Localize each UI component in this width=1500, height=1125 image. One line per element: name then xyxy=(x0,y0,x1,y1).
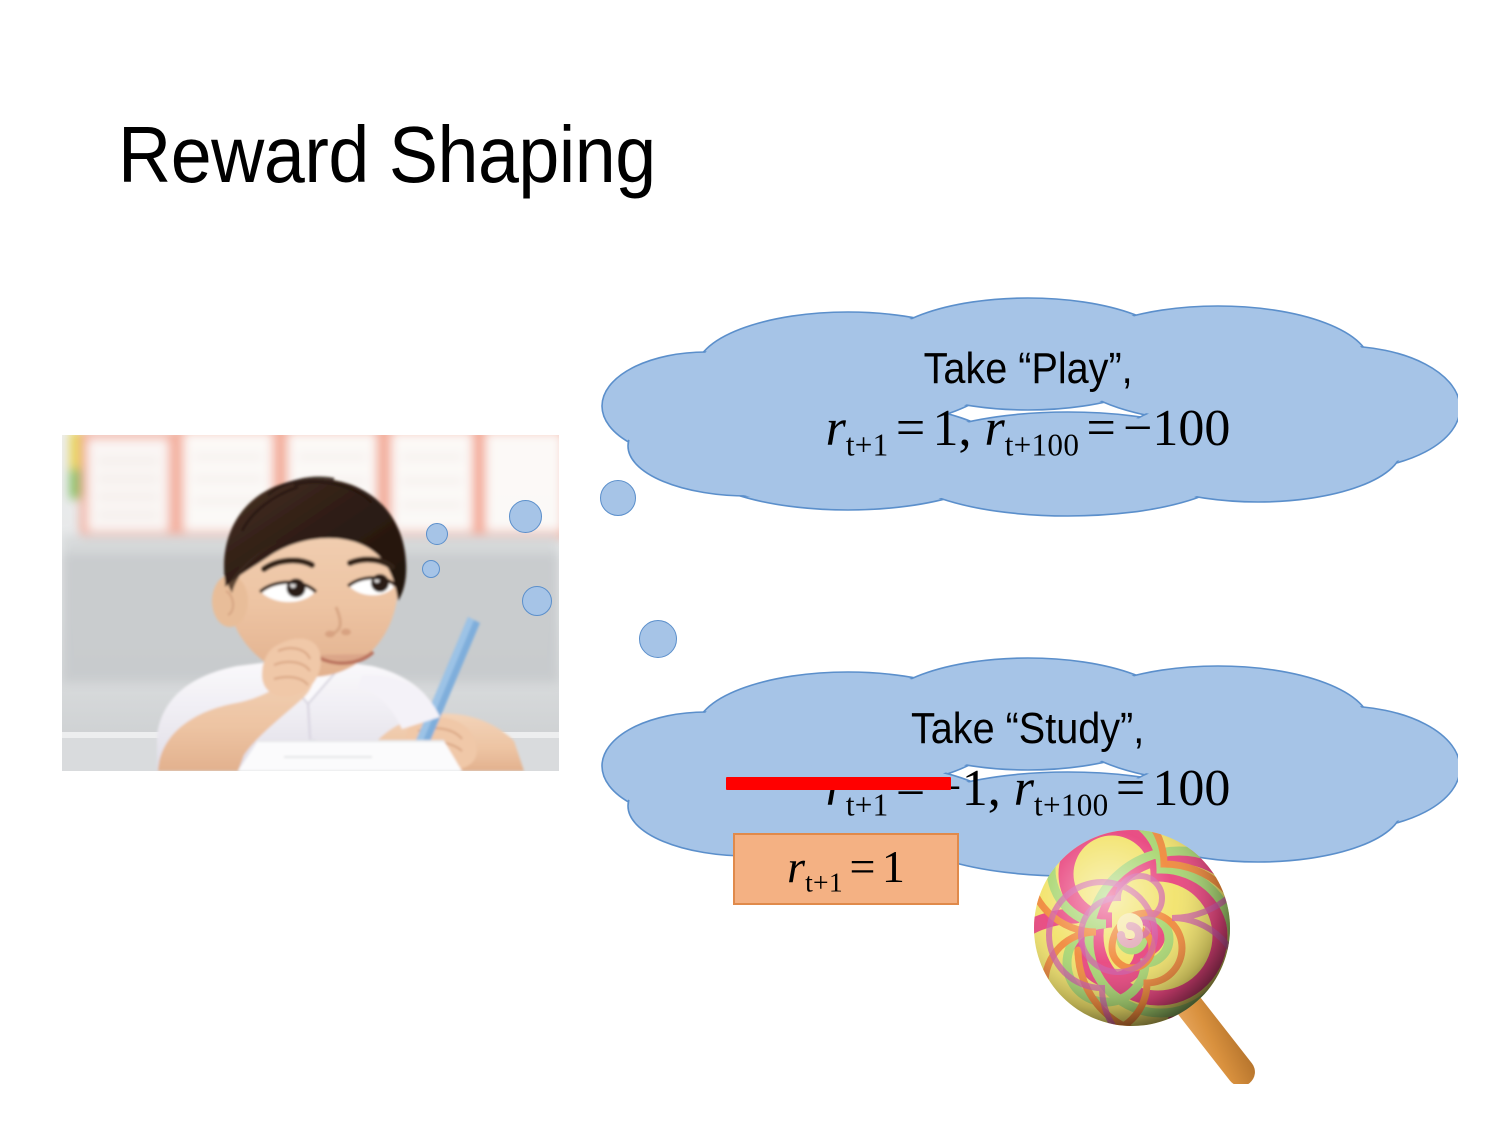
thought-trail-circle xyxy=(426,523,448,545)
page-title: Reward Shaping xyxy=(118,112,656,198)
thought-trail-circle xyxy=(509,500,542,533)
thought-bubble-play: Take “Play”, rt+1=1, rt+100=−100 xyxy=(598,288,1458,518)
strikethrough-bar xyxy=(726,777,951,790)
callout-value: 1 xyxy=(882,841,905,892)
reward-callout-box: rt+1=1 xyxy=(733,833,959,905)
callout-equals: = xyxy=(843,841,882,892)
thought-trail-circle xyxy=(522,586,552,616)
slide-canvas: Reward Shaping xyxy=(0,0,1500,1125)
thinking-boy-photo xyxy=(62,435,559,771)
thought-trail-circle xyxy=(422,560,440,578)
callout-variable: r xyxy=(787,841,805,892)
callout-subscript: t+1 xyxy=(805,866,843,897)
swirl-lollipop-icon xyxy=(1022,822,1312,1084)
callout-formula: rt+1=1 xyxy=(787,840,905,899)
